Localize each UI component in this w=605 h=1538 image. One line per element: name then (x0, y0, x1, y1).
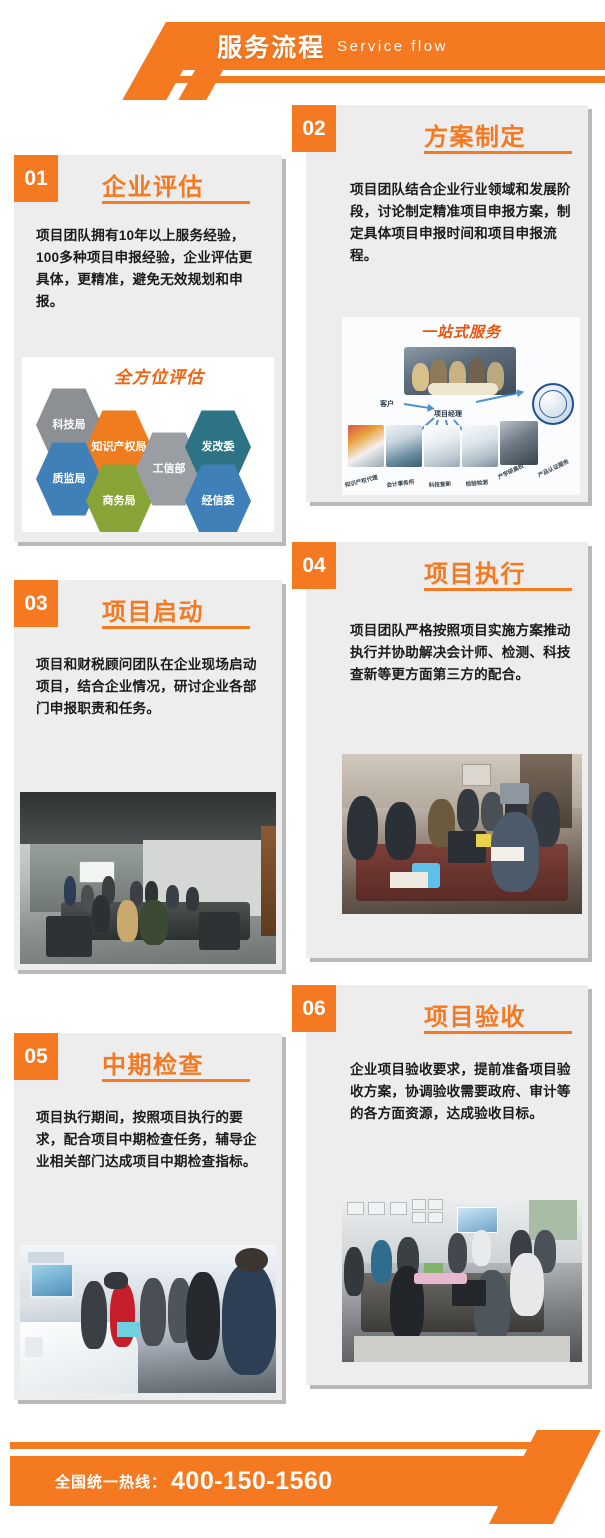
one-stop-diagram: 一站式服务 客户 项目经理 知识产权代理 (342, 317, 580, 495)
service-flow-infographic: 服务流程 Service flow 01 企业评估 项目团队拥有10年以上服务经… (0, 0, 605, 1538)
one-stop-arrow-1 (404, 403, 434, 410)
one-stop-thumb-3 (424, 425, 460, 467)
one-stop-thumb-2 (386, 425, 422, 467)
step-card-06[interactable]: 06 项目验收 企业项目验收要求，提前准备项目验收方案，协调验收需要政府、审计等… (306, 985, 588, 1385)
photo-showroom-visit (20, 1245, 276, 1393)
step-card-01[interactable]: 01 企业评估 项目团队拥有10年以上服务经验，100多种项目申报经验，企业评估… (14, 155, 282, 542)
hotline-label: 全国统一热线： (55, 1471, 167, 1492)
photo-acceptance-meeting (342, 1197, 582, 1362)
hex-diagram: 全方位评估 科技局 知识产权局 质监局 商务局 工信部 发改委 经信委 (22, 357, 274, 532)
photo-meeting-room (20, 792, 276, 964)
step-number-badge-04: 04 (292, 542, 336, 589)
step-title-01: 企业评估 (102, 167, 204, 202)
one-stop-service-2: 会计事务所 (386, 478, 415, 489)
header-title-group: 服务流程 Service flow (0, 22, 605, 70)
step-title-06: 项目验收 (424, 997, 526, 1032)
step-body-03: 项目和财税顾问团队在企业现场启动项目，结合企业情况，研讨企业各部门申报职责和任务… (36, 654, 262, 720)
step-number-badge-05: 05 (14, 1033, 58, 1080)
one-stop-service-3: 科技查新 (428, 479, 451, 489)
footer-hotline-bar: 全国统一热线： 400-150-1560 (0, 1430, 605, 1538)
hex-diagram-title: 全方位评估 (114, 363, 204, 388)
step-title-underline-03 (102, 626, 250, 629)
step-number-badge-03: 03 (14, 580, 58, 627)
step-title-underline-02 (424, 151, 572, 154)
step-title-03: 项目启动 (102, 592, 204, 627)
step-number-badge-01: 01 (14, 155, 58, 202)
hotline-number[interactable]: 400-150-1560 (171, 1467, 333, 1496)
step-body-02: 项目团队结合企业行业领域和发展阶段，讨论制定精准项目申报方案，制定具体项目申报时… (350, 179, 572, 267)
page-title: 服务流程 (217, 28, 325, 64)
one-stop-service-6: 产品认证服务 (536, 457, 570, 479)
one-stop-service-1: 知识产权代理 (344, 473, 379, 489)
step-body-01: 项目团队拥有10年以上服务经验，100多种项目申报经验，企业评估更具体，更精准，… (36, 225, 262, 313)
one-stop-thumb-4 (462, 425, 498, 467)
one-stop-title: 一站式服务 (342, 321, 580, 342)
page-subtitle: Service flow (337, 38, 448, 55)
header-banner: 服务流程 Service flow (0, 0, 605, 100)
step-card-02[interactable]: 02 方案制定 项目团队结合企业行业领域和发展阶段，讨论制定精准项目申报方案，制… (306, 105, 588, 502)
header-thin-rule (170, 76, 605, 83)
step-body-06: 企业项目验收要求，提前准备项目验收方案，协调验收需要政府、审计等的各方面资源，达… (350, 1059, 572, 1125)
one-stop-node-customer: 客户 (380, 399, 394, 409)
one-stop-node-manager: 项目经理 (434, 409, 462, 419)
one-stop-thumb-5 (500, 421, 538, 465)
step-card-05[interactable]: 05 中期检查 项目执行期间，按照项目执行的要求，配合项目中期检查任务，辅导企业… (14, 1033, 282, 1400)
photo-working-session (342, 754, 582, 914)
step-title-underline-01 (102, 201, 250, 204)
step-body-04: 项目团队严格按照项目实施方案推动执行并协助解决会计师、检测、科技查新等更方面第三… (350, 620, 572, 686)
one-stop-center-photo (404, 347, 516, 395)
footer-thin-rule (10, 1442, 570, 1449)
step-title-04: 项目执行 (424, 554, 526, 589)
footer-text-group: 全国统一热线： 400-150-1560 (55, 1456, 333, 1506)
one-stop-service-4: 检验检测 (465, 478, 488, 488)
step-title-underline-04 (424, 588, 572, 591)
step-title-underline-05 (102, 1079, 250, 1082)
step-body-05: 项目执行期间，按照项目执行的要求，配合项目中期检查任务，辅导企业相关部门达成项目… (36, 1107, 262, 1173)
step-title-underline-06 (424, 1031, 572, 1034)
step-number-badge-02: 02 (292, 105, 336, 152)
step-title-05: 中期检查 (102, 1045, 204, 1080)
step-number-badge-06: 06 (292, 985, 336, 1032)
step-card-03[interactable]: 03 项目启动 项目和财税顾问团队在企业现场启动项目，结合企业情况，研讨企业各部… (14, 580, 282, 970)
step-title-02: 方案制定 (424, 117, 526, 152)
one-stop-thumb-1 (348, 425, 384, 467)
step-card-04[interactable]: 04 项目执行 项目团队严格按照项目实施方案推动执行并协助解决会计师、检测、科技… (306, 542, 588, 958)
one-stop-certification-seal-icon (532, 383, 574, 425)
